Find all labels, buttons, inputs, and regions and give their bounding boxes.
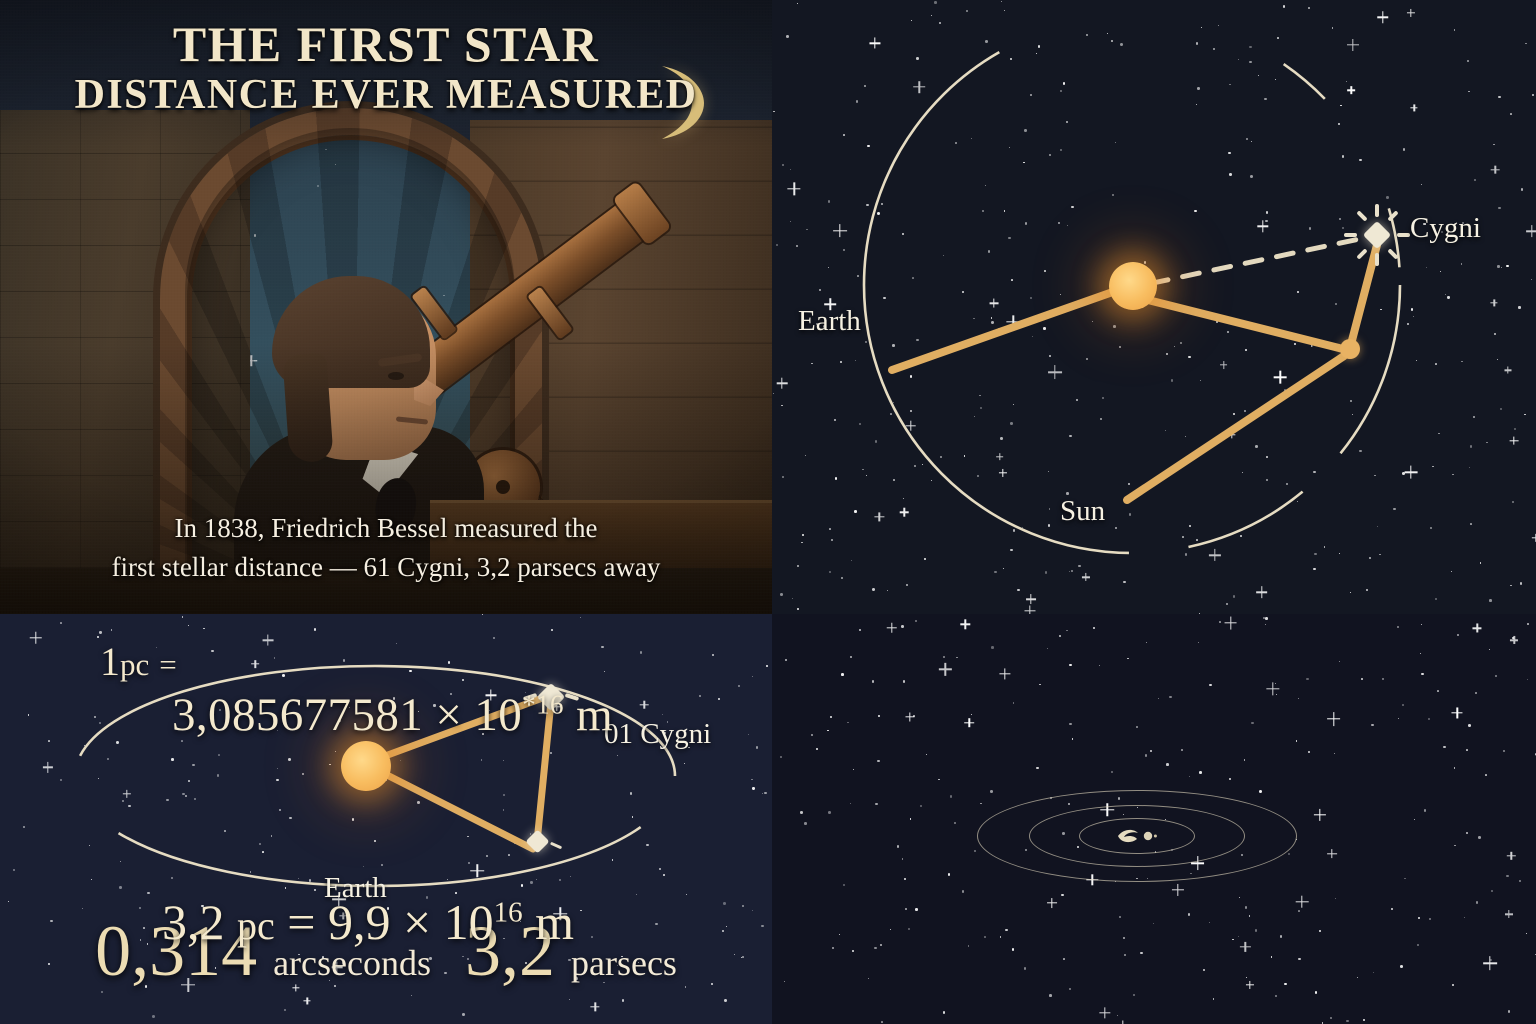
illustration-caption: In 1838, Friedrich Bessel measured the f…	[0, 509, 772, 586]
star-dot	[1466, 832, 1468, 834]
star-dot	[1298, 698, 1299, 699]
star-dot	[1535, 954, 1536, 955]
star-dot	[1265, 624, 1266, 625]
star-dot	[1059, 635, 1061, 637]
star-dot	[1454, 845, 1455, 846]
star-ray	[1387, 210, 1398, 221]
equation-1-value: 3,085677581 × 10*16 m	[172, 688, 613, 742]
eq1-times: ×	[435, 689, 462, 741]
star-dot	[1421, 673, 1424, 676]
star-dot	[1443, 746, 1446, 749]
star-dot	[1005, 929, 1008, 932]
star-dot	[843, 884, 846, 887]
star-label: Cygni	[1410, 212, 1481, 245]
star-ray	[1375, 253, 1379, 266]
star-dot	[877, 760, 880, 763]
eq2-unit: m	[535, 894, 574, 950]
star-dot	[1275, 995, 1277, 997]
star-dot	[1373, 972, 1374, 973]
star-dot	[1361, 678, 1363, 680]
star-dot	[1519, 880, 1521, 882]
star-dot	[1158, 698, 1159, 699]
star-dot	[1232, 939, 1234, 941]
star-dot	[1219, 621, 1221, 623]
star-dot	[1429, 918, 1431, 920]
star-dot	[1133, 994, 1135, 996]
earth-marker	[1340, 339, 1360, 359]
star-glyph	[1452, 707, 1463, 718]
star-dot	[1322, 1022, 1324, 1024]
star-dot	[1306, 678, 1309, 681]
star-dot	[1066, 630, 1067, 631]
star-dot	[1478, 836, 1481, 839]
star-glyph	[1246, 981, 1254, 989]
star-label: 01 Cygni	[604, 718, 711, 751]
star-dot	[1495, 675, 1497, 677]
star-dot	[1298, 958, 1300, 960]
star-dot	[905, 908, 907, 910]
star-dot	[1428, 718, 1430, 720]
star-glyph	[1505, 910, 1513, 918]
star-dot	[1437, 690, 1439, 692]
star-dot	[1169, 696, 1171, 698]
star-glyph	[1327, 712, 1341, 726]
star-dot	[1209, 922, 1210, 923]
star-glyph	[1483, 957, 1497, 971]
star-dot	[1512, 637, 1514, 639]
star-dot	[1335, 898, 1336, 899]
star-dot	[1417, 944, 1419, 946]
star-dot	[1506, 875, 1509, 878]
star-dot	[1382, 678, 1383, 679]
star-dot	[1246, 977, 1247, 978]
star-dot	[1181, 749, 1183, 751]
eq2-times: ×	[403, 894, 431, 950]
star-dot	[804, 822, 807, 825]
star-dot	[1420, 653, 1422, 655]
star-dot	[902, 858, 904, 860]
astronomer-eye	[388, 372, 404, 380]
star-glyph	[1099, 1007, 1110, 1018]
eq2-base: 10	[444, 894, 494, 950]
eq1-base: 10	[474, 689, 522, 741]
star-dot	[913, 715, 915, 717]
star-dot	[1119, 916, 1121, 918]
star-dot	[816, 748, 818, 750]
star-dot	[1526, 933, 1527, 934]
star-glyph	[1000, 668, 1011, 679]
eq2-mantissa: 9,9	[328, 894, 391, 950]
star-dot	[1339, 661, 1340, 662]
star-dot	[1402, 704, 1404, 706]
star-ray	[1397, 233, 1410, 237]
star-dot	[1145, 754, 1148, 757]
eq1-lead-number: 1	[100, 639, 120, 684]
star-dot	[1249, 915, 1251, 917]
star-dot	[1452, 984, 1454, 986]
star-dot	[1490, 959, 1492, 961]
star-glyph	[1327, 849, 1337, 859]
star-dot	[1503, 750, 1505, 752]
star-dot	[1275, 683, 1276, 684]
star-glyph	[1240, 942, 1250, 952]
star-dot	[859, 629, 861, 631]
star-dot	[897, 845, 899, 847]
star-glyph	[965, 718, 975, 728]
star-dot	[1061, 894, 1063, 896]
star-dot	[1000, 936, 1002, 938]
star-dot	[1199, 771, 1202, 774]
star-dot	[852, 950, 855, 953]
star-dot	[811, 734, 813, 736]
star-dot	[1093, 627, 1095, 629]
star-dot	[875, 803, 878, 806]
eq1-unit: m	[576, 689, 613, 741]
equation-1-lead: 1pc =	[100, 638, 177, 685]
title-line-2: DISTANCE EVER MEASURED	[0, 73, 772, 118]
star-glyph	[939, 663, 951, 675]
star-dot	[920, 805, 922, 807]
star-dot	[1244, 759, 1246, 761]
star-dot	[974, 850, 976, 852]
star-glyph	[1510, 636, 1518, 644]
star-dot	[853, 769, 854, 770]
parallax-diagram-svg	[772, 0, 1536, 614]
star-dot	[1012, 948, 1015, 951]
star-dot	[1146, 642, 1147, 643]
star-core	[525, 829, 549, 853]
star-dot	[943, 656, 945, 658]
star-dot	[1284, 983, 1286, 985]
star-dot	[850, 803, 851, 804]
star-dot	[1069, 664, 1072, 667]
star-glyph	[1473, 624, 1482, 633]
star-ray	[1356, 248, 1367, 259]
illustration-panel: THE FIRST STAR DISTANCE EVER MEASURED In…	[0, 0, 772, 614]
baseline-arm-line	[1127, 356, 1344, 500]
star-dot	[1213, 998, 1215, 1000]
star-dot	[1457, 634, 1459, 636]
star-dot	[1188, 913, 1190, 915]
star-dot	[881, 1021, 883, 1023]
star-dot	[908, 928, 910, 930]
eq2-lead-unit: pc	[237, 903, 275, 948]
star-dot	[1454, 767, 1455, 768]
star-dot	[1475, 692, 1477, 694]
solar-system-orbits-icon	[977, 790, 1297, 882]
star-dot	[1111, 771, 1113, 773]
eq1-equals: =	[159, 647, 176, 682]
star-dot	[1124, 954, 1126, 956]
eq1-mantissa: 3,085677581	[172, 689, 423, 741]
star-dot	[1466, 749, 1468, 751]
star-dot	[1271, 956, 1273, 958]
star-dot	[1421, 624, 1422, 625]
star-dot	[1063, 958, 1065, 960]
star-dot	[800, 811, 803, 814]
title-line-1: THE FIRST STAR	[0, 18, 772, 71]
star-glyph	[1224, 616, 1237, 629]
star-dot	[971, 714, 972, 715]
astronomer-sideburn	[282, 353, 333, 464]
star-dot	[1127, 658, 1129, 660]
star-dot	[1039, 684, 1041, 686]
star-dot	[878, 715, 880, 717]
star-dot	[1357, 977, 1358, 978]
star-dot	[1263, 617, 1265, 619]
star-dot	[1166, 763, 1169, 766]
star-dot	[1491, 890, 1493, 892]
star-dot	[991, 646, 994, 649]
star-dot	[1209, 684, 1211, 686]
star-dot	[1414, 819, 1415, 820]
star-dot	[956, 657, 957, 658]
star-dot	[1464, 917, 1465, 918]
star-dot	[1069, 988, 1071, 990]
star-dot	[839, 934, 840, 935]
star-dot	[954, 822, 956, 824]
star-dot	[1203, 969, 1205, 971]
star-glyph	[1118, 1021, 1127, 1024]
star-dot	[827, 730, 829, 732]
star-dot	[901, 625, 904, 628]
star-dot	[926, 754, 927, 755]
star-dot	[1296, 740, 1298, 742]
star-glyph	[1296, 895, 1309, 908]
star-dot	[1391, 908, 1393, 910]
star-dot	[1398, 718, 1399, 719]
star-dot	[1527, 623, 1529, 625]
earth-label: Earth	[798, 305, 861, 338]
star-dot	[1245, 906, 1248, 909]
star-core	[1363, 221, 1391, 249]
star-dot	[890, 929, 891, 930]
star-dot	[1280, 935, 1283, 938]
star-dot	[1049, 994, 1052, 997]
star-dot	[1069, 723, 1072, 726]
star-dot	[868, 978, 869, 979]
eq2-lead-number: 3,2	[162, 894, 225, 950]
star-dot	[984, 936, 986, 938]
star-marker-lower	[518, 822, 556, 860]
star-dot	[1265, 617, 1268, 620]
star-glyph	[905, 713, 914, 722]
star-dot	[1404, 878, 1405, 879]
star-dot	[1189, 776, 1191, 778]
star-dot	[874, 947, 877, 950]
star-dot	[915, 908, 918, 911]
star-dot	[1150, 750, 1153, 753]
star-dot	[1013, 702, 1014, 703]
star-dot	[1485, 774, 1487, 776]
star-dot	[1255, 929, 1258, 932]
star-ray	[1356, 210, 1367, 221]
star-dot	[1198, 642, 1199, 643]
star-dot	[1047, 648, 1048, 649]
eq1-exponent: *16	[522, 689, 564, 719]
star-dot	[830, 716, 832, 718]
star-dot	[1298, 910, 1300, 912]
star-dot	[784, 981, 785, 982]
star-dot	[1468, 724, 1471, 727]
eq2-equals: =	[287, 894, 315, 950]
star-dot	[904, 878, 906, 880]
star-dot	[1238, 936, 1239, 937]
star-dot	[943, 1011, 946, 1014]
star-dot	[1140, 952, 1143, 955]
page-title: THE FIRST STAR DISTANCE EVER MEASURED	[0, 18, 772, 118]
star-glyph	[1172, 884, 1184, 896]
star-dot	[950, 795, 953, 798]
star-dot	[1229, 778, 1232, 781]
earth-sun-line	[892, 288, 1124, 370]
star-glyph	[1047, 898, 1057, 908]
star-dot	[847, 722, 849, 724]
star-dot	[841, 673, 844, 676]
caption-line-1: In 1838, Friedrich Bessel measured the	[0, 509, 772, 547]
star-dot	[1072, 738, 1073, 739]
eq2-exponent: 16	[494, 896, 523, 928]
star-dot	[1330, 1017, 1333, 1020]
star-ray	[1375, 204, 1379, 217]
star-dot	[828, 811, 831, 814]
star-glyph	[1266, 682, 1279, 695]
star-dot	[1123, 937, 1126, 940]
star-dot	[832, 947, 834, 949]
solar-system-core	[1116, 826, 1158, 846]
star-dot	[948, 873, 951, 876]
eq1-lead-unit: pc	[120, 647, 149, 682]
star-dot	[850, 656, 852, 658]
caption-line-2: first stellar distance — 61 Cygni, 3,2 p…	[0, 548, 772, 586]
star-glyph	[961, 620, 970, 629]
star-dot	[938, 779, 940, 781]
star-dot	[1276, 694, 1278, 696]
star-dot	[1508, 1010, 1511, 1013]
star-dot	[1308, 751, 1310, 753]
star-ray	[1387, 248, 1398, 259]
star-dot	[1489, 649, 1490, 650]
star-dot	[872, 680, 875, 683]
star-dot	[910, 818, 911, 819]
parsec-conversion-panel	[772, 614, 1536, 1024]
star-dot	[1251, 722, 1254, 725]
star-glyph	[886, 622, 897, 633]
star-dot	[1315, 991, 1317, 993]
sun-marker	[341, 741, 391, 791]
star-dot	[1397, 626, 1399, 628]
star-dot	[962, 890, 964, 892]
star-dot	[903, 680, 906, 683]
star-dot	[1117, 1015, 1118, 1016]
star-dot	[1239, 897, 1240, 898]
star-dot	[785, 659, 787, 661]
star-dot	[915, 620, 918, 623]
sun-marker	[1109, 262, 1157, 310]
star-glyph	[1314, 809, 1326, 821]
star-glyph	[1507, 852, 1515, 860]
star-ray	[1344, 233, 1357, 237]
star-dot	[1400, 965, 1403, 968]
star-dot	[1334, 753, 1335, 754]
parallax-diagram-panel: Earth Sun Cygni	[772, 0, 1536, 614]
star-dot	[1036, 767, 1038, 769]
star-marker	[1350, 208, 1404, 262]
star-dot	[1418, 917, 1420, 919]
star-dot	[1363, 1019, 1365, 1021]
star-dot	[968, 945, 970, 947]
star-dot	[1319, 930, 1321, 932]
distance-unit: parsecs	[571, 943, 677, 983]
star-dot	[1371, 724, 1374, 727]
sun-to-lower-earth-line	[385, 774, 533, 849]
star-dot	[1099, 665, 1100, 666]
infographic-poster: THE FIRST STAR DISTANCE EVER MEASURED In…	[0, 0, 1536, 1024]
sun-to-earth-line	[1132, 296, 1347, 350]
star-dot	[1527, 679, 1528, 680]
star-dot	[780, 756, 782, 758]
star-dot	[1346, 1020, 1349, 1023]
star-dot	[880, 944, 882, 946]
star-dot	[1153, 923, 1154, 924]
sun-label: Sun	[1060, 495, 1105, 528]
star-dot	[1024, 967, 1027, 970]
star-dot	[1424, 809, 1426, 811]
star-dot	[1476, 901, 1479, 904]
equation-2: 3,2 pc = 9,9 × 1016 m	[162, 893, 574, 951]
star-dot	[1136, 726, 1138, 728]
